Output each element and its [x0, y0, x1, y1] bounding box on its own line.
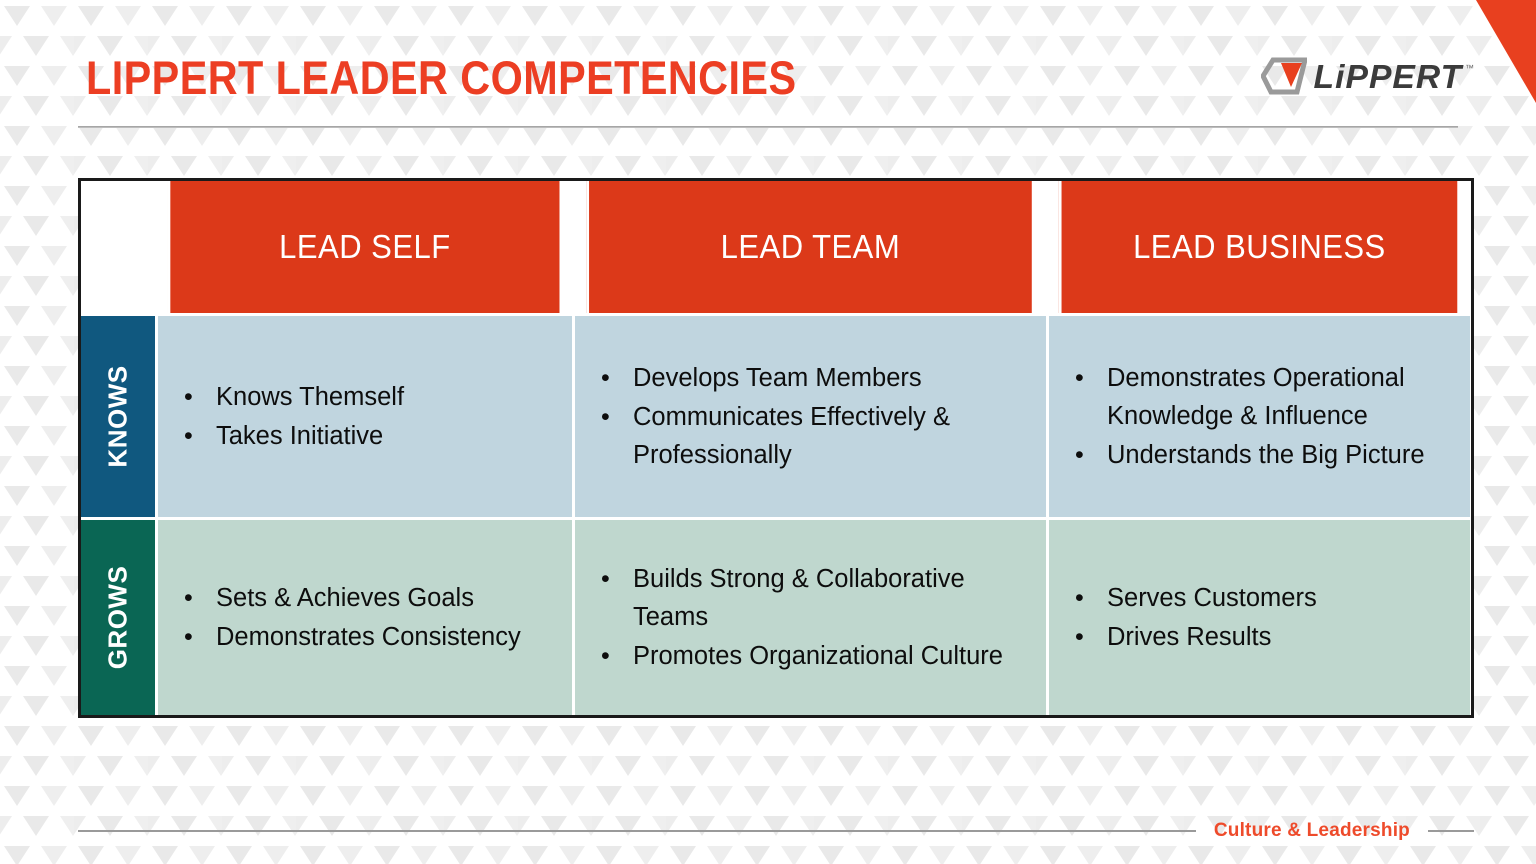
cell-grows-lead-business: Serves Customers Drives Results: [1046, 517, 1470, 715]
column-header-lead-business: LEAD BUSINESS: [1059, 181, 1458, 313]
column-header-lead-self: LEAD SELF: [168, 181, 560, 313]
cell-grows-lead-self: Sets & Achieves Goals Demonstrates Consi…: [155, 517, 572, 715]
bullet-list: Serves Customers Drives Results: [1063, 579, 1460, 657]
bullet-list: Builds Strong & Collaborative Teams Prom…: [589, 560, 1036, 676]
page-title: LIPPERT LEADER COMPETENCIES: [86, 50, 796, 105]
row-header-grows-label: GROWS: [103, 566, 134, 670]
list-item: Demonstrates Operational Knowledge & Inf…: [1063, 359, 1460, 435]
list-item: Takes Initiative: [172, 417, 562, 455]
lippert-logo: LiPPERT ™: [1261, 57, 1474, 97]
list-item: Understands the Big Picture: [1063, 436, 1460, 474]
lippert-logo-mark: [1261, 57, 1307, 97]
list-item: Builds Strong & Collaborative Teams: [589, 560, 1036, 636]
title-divider-rule: [78, 126, 1458, 128]
bullet-list: Sets & Achieves Goals Demonstrates Consi…: [172, 579, 562, 657]
cell-knows-lead-self: Knows Themself Takes Initiative: [155, 313, 572, 517]
lippert-wordmark: LiPPERT: [1314, 58, 1463, 96]
list-item: Demonstrates Consistency: [172, 618, 562, 656]
row-header-grows: GROWS: [81, 517, 155, 715]
row-header-knows: KNOWS: [81, 313, 155, 517]
slide-footer: Culture & Leadership: [78, 820, 1474, 842]
matrix-corner-blank: [81, 181, 155, 313]
footer-rule-right: [1428, 830, 1474, 832]
list-item: Communicates Effectively & Professionall…: [589, 398, 1036, 474]
list-item: Drives Results: [1063, 618, 1460, 656]
list-item: Promotes Organizational Culture: [589, 637, 1036, 675]
list-item: Serves Customers: [1063, 579, 1460, 617]
list-item: Knows Themself: [172, 378, 562, 416]
cell-grows-lead-team: Builds Strong & Collaborative Teams Prom…: [572, 517, 1046, 715]
bullet-list: Demonstrates Operational Knowledge & Inf…: [1063, 359, 1460, 475]
column-header-lead-team: LEAD TEAM: [586, 181, 1032, 313]
competency-matrix: LEAD SELF LEAD TEAM LEAD BUSINESS KNOWS …: [78, 178, 1474, 718]
footer-rule-left: [78, 830, 1196, 832]
bullet-list: Knows Themself Takes Initiative: [172, 378, 562, 456]
cell-knows-lead-team: Develops Team Members Communicates Effec…: [572, 313, 1046, 517]
trademark-symbol: ™: [1465, 63, 1474, 73]
cell-knows-lead-business: Demonstrates Operational Knowledge & Inf…: [1046, 313, 1470, 517]
bullet-list: Develops Team Members Communicates Effec…: [589, 359, 1036, 475]
row-header-knows-label: KNOWS: [103, 365, 134, 467]
footer-label: Culture & Leadership: [1196, 820, 1428, 842]
list-item: Sets & Achieves Goals: [172, 579, 562, 617]
list-item: Develops Team Members: [589, 359, 1036, 397]
